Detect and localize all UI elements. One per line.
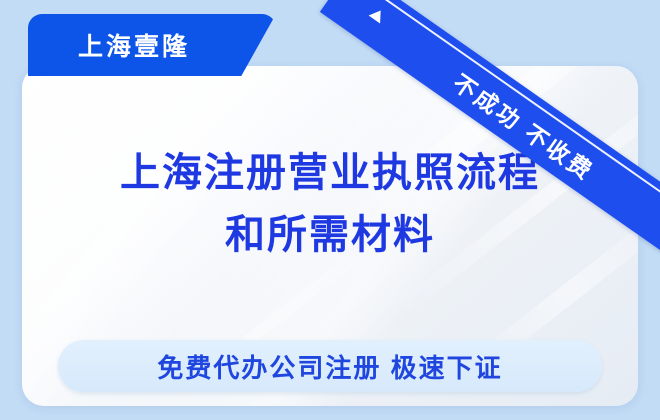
cta-pill[interactable]: 免费代办公司注册 极速下证 [58,340,602,392]
headline-line-2: 和所需材料 [22,204,638,266]
cta-pill-label: 免费代办公司注册 极速下证 [157,348,502,385]
brand-tab: 上海壹隆 [28,14,276,76]
brand-tab-label: 上海壹隆 [28,14,240,76]
promo-poster: 上海注册营业执照流程 和所需材料 免费代办公司注册 极速下证 上海壹隆 不成功 … [0,0,660,420]
